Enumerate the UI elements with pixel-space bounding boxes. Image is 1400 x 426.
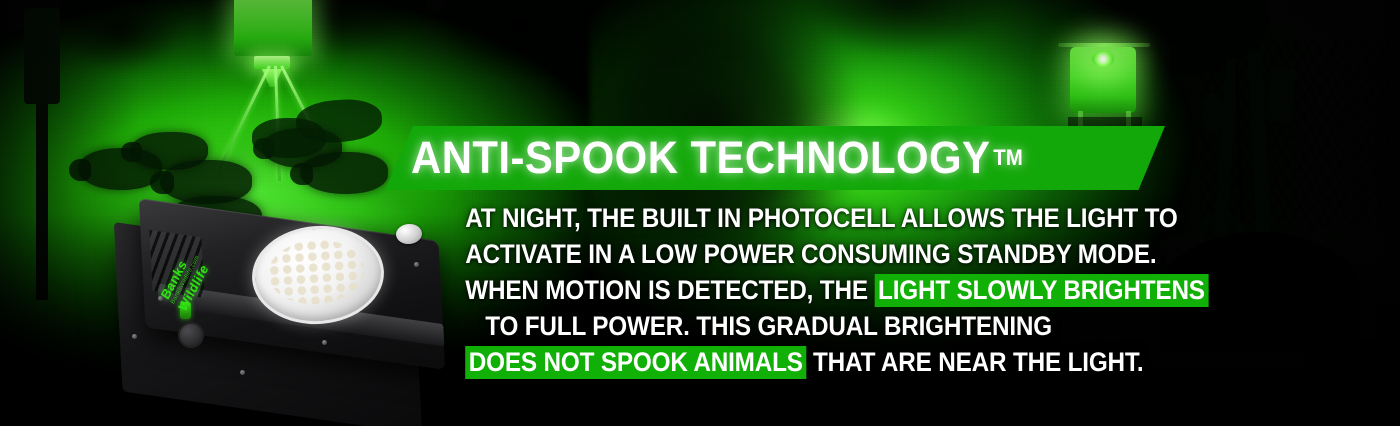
copy-text: ACTIVATE IN A LOW POWER CONSUMING STANDB… [465, 239, 1156, 269]
trademark-symbol: TM [993, 145, 1023, 171]
highlight-does-not-spook-animals: DOES NOT SPOOK ANIMALS [465, 346, 806, 379]
copy-text: TO FULL POWER. THIS GRADUAL BRIGHTENING [485, 311, 1052, 341]
title-label: ANTI-SPOOK TECHNOLOGY [411, 132, 990, 184]
fixture-screw [132, 334, 137, 339]
fixture-screw [240, 370, 245, 375]
fixture-screw [158, 296, 163, 301]
copy-line: ACTIVATE IN A LOW POWER CONSUMING STANDB… [465, 236, 1052, 272]
copy-line: AT NIGHT, THE BUILT IN PHOTOCELL ALLOWS … [465, 200, 1052, 236]
highlight-light-slowly-brightens: LIGHT SLOWLY BRIGHTENS [874, 274, 1208, 307]
title-banner: ANTI-SPOOK TECHNOLOGYTM [385, 126, 1165, 190]
copy-text: WHEN MOTION IS DETECTED, THE [465, 275, 874, 305]
fixture-screw [322, 340, 327, 345]
copy-line: TO FULL POWER. THIS GRADUAL BRIGHTENING [465, 308, 1052, 344]
anti-spook-technology-banner: Banks BanksWildlife.com Wildlife ANTI-SP… [0, 0, 1400, 426]
body-copy: AT NIGHT, THE BUILT IN PHOTOCELL ALLOWS … [400, 200, 1052, 380]
copy-text: AT NIGHT, THE BUILT IN PHOTOCELL ALLOWS … [465, 203, 1177, 233]
copy-line: WHEN MOTION IS DETECTED, THE LIGHT SLOWL… [465, 272, 1052, 308]
page-title: ANTI-SPOOK TECHNOLOGYTM [411, 126, 1112, 190]
copy-line: DOES NOT SPOOK ANIMALS THAT ARE NEAR THE… [465, 344, 1052, 380]
fixture-knob [178, 322, 204, 348]
copy-text: THAT ARE NEAR THE LIGHT. [806, 347, 1143, 377]
